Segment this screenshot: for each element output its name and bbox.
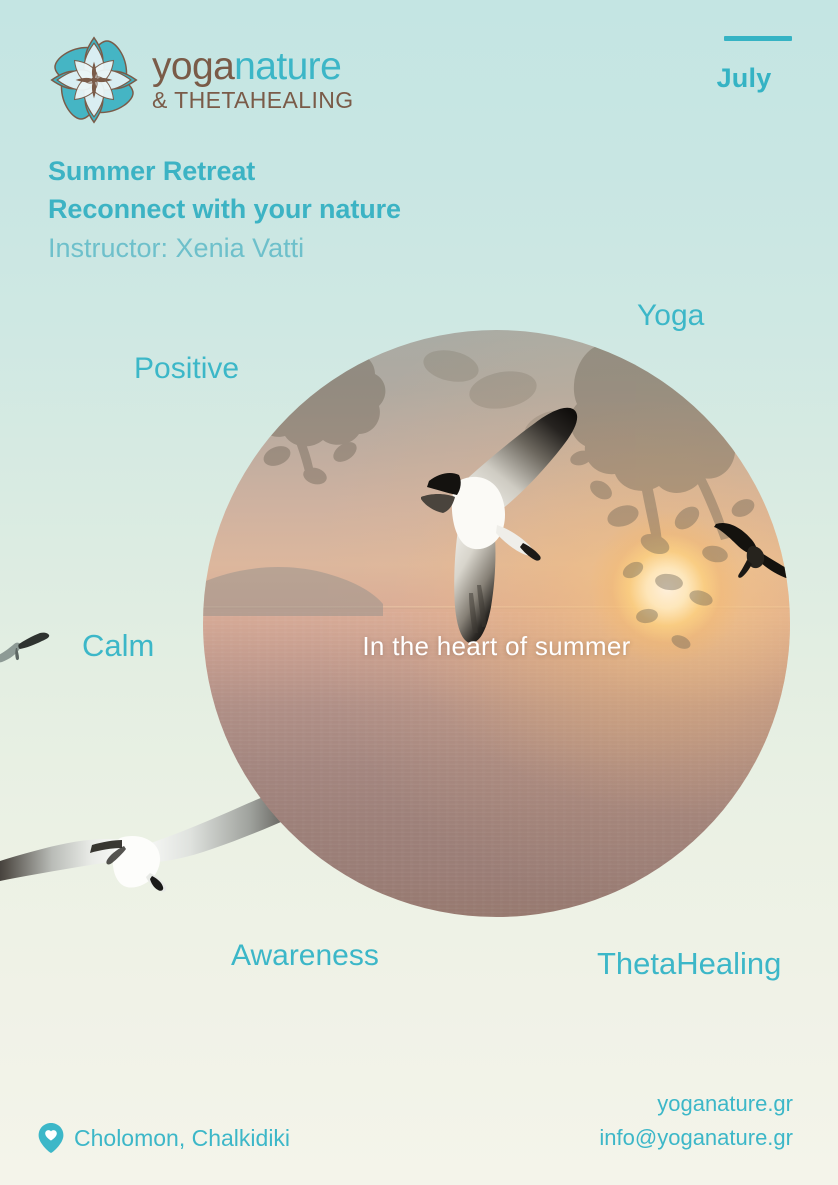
month-label: July	[696, 63, 792, 94]
keyword-awareness: Awareness	[231, 939, 379, 973]
brand-logo[interactable]: yoganature & THETAHEALING	[48, 34, 354, 126]
location-label: Cholomon, Chalkidiki	[74, 1125, 290, 1152]
keyword-calm: Calm	[82, 628, 154, 664]
keyword-positive: Positive	[134, 352, 239, 386]
logo-subwordmark: & THETAHEALING	[152, 87, 354, 114]
wordmark-nature: nature	[234, 45, 341, 88]
instructor-label: Instructor: Xenia Vatti	[48, 228, 401, 268]
website-link[interactable]: yoganature.gr	[599, 1087, 793, 1121]
headline-line-1: Summer Retreat	[48, 152, 401, 190]
map-pin-heart-icon	[38, 1123, 64, 1153]
keyword-thetahealing: ThetaHealing	[597, 946, 781, 982]
month-divider-rule	[724, 36, 792, 41]
keyword-yoga: Yoga	[637, 299, 704, 333]
email-link[interactable]: info@yoganature.gr	[599, 1121, 793, 1155]
footer-location: Cholomon, Chalkidiki	[38, 1123, 290, 1153]
seagull-silhouette-icon	[708, 508, 790, 593]
wordmark-yoga: yoga	[152, 45, 234, 88]
logo-wordmark: yoganature	[152, 47, 354, 87]
headline-block: Summer Retreat Reconnect with your natur…	[48, 152, 401, 268]
footer-contact: yoganature.gr info@yoganature.gr	[599, 1087, 793, 1155]
mandala-lotus-icon	[48, 34, 140, 126]
month-badge: July	[696, 36, 792, 94]
logo-text-block: yoganature & THETAHEALING	[152, 47, 354, 114]
seagull-small-icon	[0, 628, 52, 668]
photo-caption: In the heart of summer	[203, 631, 790, 662]
circular-photo: In the heart of summer	[203, 330, 790, 917]
headline-line-2: Reconnect with your nature	[48, 190, 401, 228]
poster-canvas: In the heart of summer	[0, 0, 838, 1185]
